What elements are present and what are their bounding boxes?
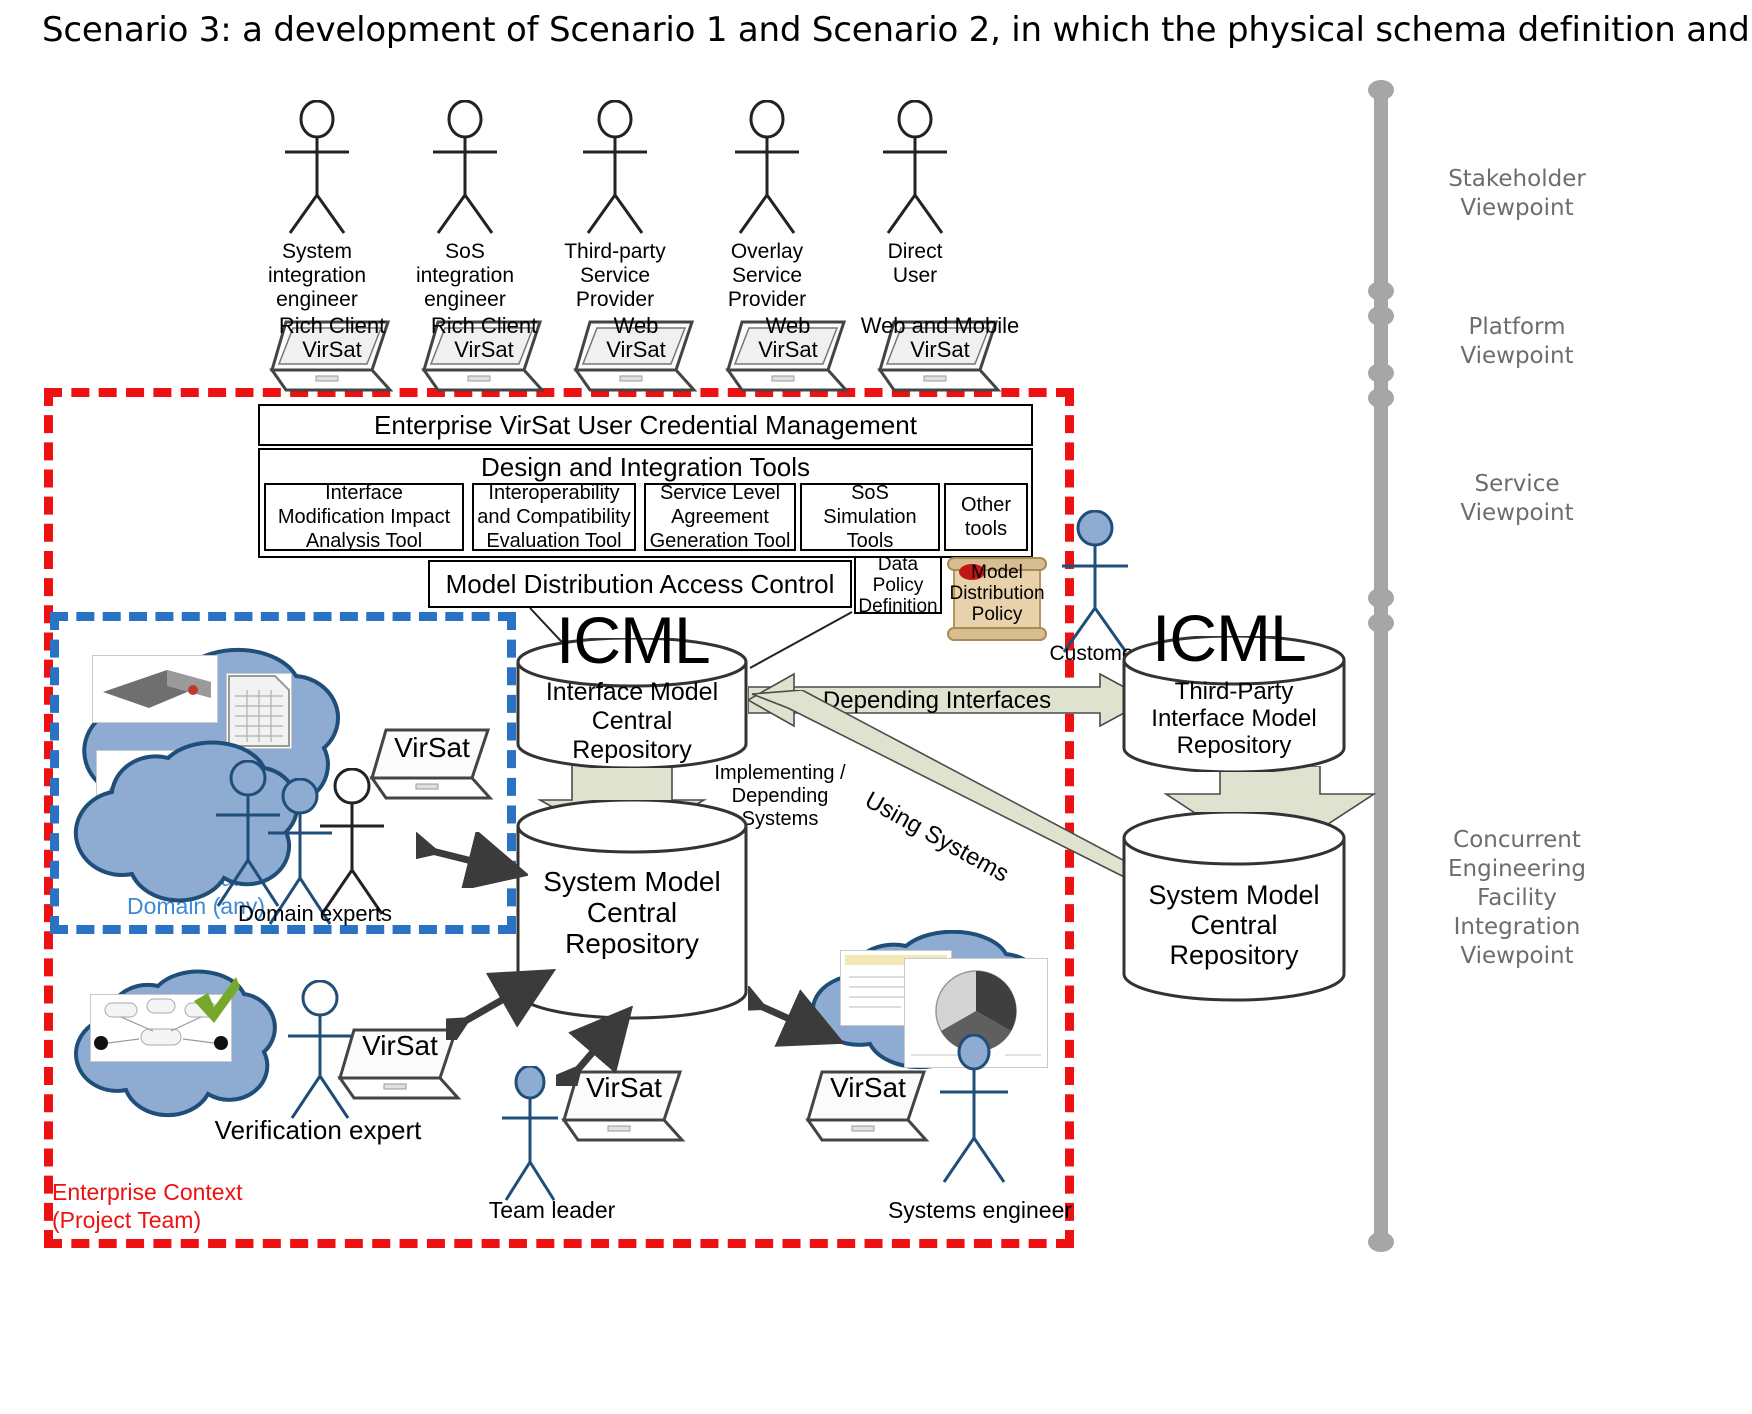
domain-expert-laptop: VirSat: [368, 726, 496, 809]
timeline-dot: [1368, 80, 1394, 100]
vp-line: Viewpoint: [1402, 194, 1632, 223]
verification-expert-laptop: VirSat: [336, 1026, 464, 1109]
actor-system-integration-engineer: [272, 100, 362, 240]
vp-line: Viewpoint: [1402, 342, 1632, 371]
tool-interface-modification[interactable]: Interface Modification Impact Analysis T…: [264, 483, 464, 551]
cyl-line: Central: [516, 897, 748, 928]
enterprise-label-line: Enterprise Context: [52, 1178, 352, 1206]
laptop-label: VirSat: [336, 1034, 464, 1058]
stick-figure-icon: [1050, 510, 1140, 655]
actor-label-line: Provider: [692, 288, 842, 312]
enterprise-context-label: Enterprise Context (Project Team): [52, 1178, 352, 1234]
vp-line: Viewpoint: [1402, 942, 1632, 971]
tool-service-level-agreement[interactable]: Service Level Agreement Generation Tool: [644, 483, 796, 551]
bidirectional-arrow-domain-to-system: [416, 832, 528, 888]
actor-direct-user: [870, 100, 960, 240]
actor-label-line: integration: [242, 264, 392, 288]
timeline-dot: [1368, 281, 1394, 301]
tool-interoperability-compatibility[interactable]: Interoperability and Compatibility Evalu…: [472, 483, 636, 551]
actor-label-verification-expert: Verification expert: [178, 1118, 458, 1142]
platform-laptop-web-2: Web VirSat: [724, 318, 852, 401]
actor-overlay-service-provider: [722, 100, 812, 240]
cyl-line: Repository: [1122, 940, 1346, 970]
actor-label-line: Direct: [840, 240, 990, 264]
platform-laptop-web-1: Web VirSat: [572, 318, 700, 401]
laptop-label-line: Web: [724, 314, 852, 338]
vp-line: Platform: [1402, 313, 1632, 342]
laptop-label-line: VirSat: [268, 338, 396, 362]
actor-label-sos-integration-engineer: SoS integration engineer: [390, 240, 540, 312]
stick-figure-icon: [870, 100, 960, 235]
viewpoint-label-platform: Platform Viewpoint: [1402, 313, 1632, 371]
laptop-label-line: VirSat: [724, 338, 852, 362]
timeline-dot: [1368, 388, 1394, 408]
laptop-label-line: Web: [572, 314, 700, 338]
laptop-label: Rich Client VirSat: [420, 314, 548, 362]
laptop-label: Web VirSat: [724, 314, 852, 362]
viewpoint-label-cef: Concurrent Engineering Facility Integrat…: [1402, 826, 1632, 971]
actor-label-line: Third-party: [540, 240, 690, 264]
platform-laptop-rich-client-2: Rich Client VirSat: [420, 318, 548, 401]
design-integration-tools-title: Design and Integration Tools: [258, 450, 1033, 484]
vp-line: Stakeholder: [1402, 165, 1632, 194]
cyl-line: System Model: [1122, 880, 1346, 910]
bidirectional-arrow-systems-engineer-to-system: [748, 986, 844, 1056]
vp-line: Integration: [1402, 913, 1632, 942]
cyl-line: Repository: [516, 736, 748, 765]
stick-figure-icon: [570, 100, 660, 235]
actor-label-overlay-service-provider: Overlay Service Provider: [692, 240, 842, 312]
tool-sos-simulation[interactable]: SoS Simulation Tools: [800, 483, 940, 551]
viewpoint-label-stakeholder: Stakeholder Viewpoint: [1402, 165, 1632, 223]
actor-label-line: Provider: [540, 288, 690, 312]
cylinder-label-third-party-interface-model-repository: Third-Party Interface Model Repository: [1122, 678, 1346, 759]
team-leader-laptop: VirSat: [560, 1068, 688, 1151]
actor-systems-engineer: [932, 1034, 1016, 1189]
actor-label-line: System: [242, 240, 392, 264]
vp-line: Engineering: [1402, 855, 1632, 884]
laptop-label: VirSat: [560, 1076, 688, 1100]
laptop-label: Rich Client VirSat: [268, 314, 396, 362]
systems-engineer-laptop: VirSat: [804, 1068, 932, 1151]
bidirectional-arrow-verification-to-system: [446, 966, 558, 1040]
cylinder-label-third-party-system-model-repository: System Model Central Repository: [1122, 880, 1346, 970]
cyl-line: Central: [1122, 910, 1346, 940]
cylinder-label-interface-model-central-repository: Interface Model Central Repository: [516, 678, 748, 765]
actor-label-line: integration: [390, 264, 540, 288]
timeline-dot: [1368, 1232, 1394, 1252]
actor-label-system-integration-engineer: System integration engineer: [242, 240, 392, 312]
actor-third-party-service-provider: [570, 100, 660, 240]
model-distribution-policy-label: ModelDistributionPolicy: [944, 562, 1050, 625]
page-title: Scenario 3: a development of Scenario 1 …: [42, 10, 1752, 50]
laptop-label-line: Web and Mobile: [860, 314, 1020, 338]
actor-label-third-party-service-provider: Third-party Service Provider: [540, 240, 690, 312]
laptop-label-line: VirSat: [420, 338, 548, 362]
timeline-dot: [1368, 613, 1394, 633]
actor-label-systems-engineer: Systems engineer: [860, 1198, 1100, 1222]
laptop-label-line: VirSat: [572, 338, 700, 362]
cyl-line: Interface Model: [516, 678, 748, 707]
cyl-line: Repository: [1122, 732, 1346, 759]
laptop-label: Web and Mobile VirSat: [860, 314, 1020, 362]
actor-team-leader: [494, 1066, 566, 1207]
stick-figure-icon: [272, 100, 362, 235]
timeline-dot: [1368, 363, 1394, 383]
stick-figure-icon: [722, 100, 812, 235]
actor-label-line: engineer: [390, 288, 540, 312]
laptop-label-line: Rich Client: [268, 314, 396, 338]
timeline-dot: [1368, 306, 1394, 326]
laptop-label: VirSat: [804, 1076, 932, 1100]
actor-label-line: Service: [540, 264, 690, 288]
actor-label-line: engineer: [242, 288, 392, 312]
hardware-photo: [92, 655, 218, 723]
vp-line: Concurrent: [1402, 826, 1632, 855]
laptop-label-line: VirSat: [860, 338, 1020, 362]
viewpoint-label-service: Service Viewpoint: [1402, 470, 1632, 528]
platform-laptop-rich-client-1: Rich Client VirSat: [268, 318, 396, 401]
actor-sos-integration-engineer: [420, 100, 510, 240]
actor-label-line: Service: [692, 264, 842, 288]
stick-figure-icon: [494, 1066, 566, 1202]
actor-label-line: Overlay: [692, 240, 842, 264]
laptop-label-line: Rich Client: [420, 314, 548, 338]
vp-line: Viewpoint: [1402, 499, 1632, 528]
platform-laptop-web-mobile: Web and Mobile VirSat: [876, 318, 1004, 401]
icml-label-interface-central: ICML: [556, 602, 710, 678]
actor-label-line: SoS: [390, 240, 540, 264]
laptop-label: Web VirSat: [572, 314, 700, 362]
enterprise-label-line: (Project Team): [52, 1206, 352, 1234]
cyl-line: Third-Party: [1122, 678, 1346, 705]
stick-figure-icon: [420, 100, 510, 235]
actor-label-direct-user: Direct User: [840, 240, 990, 288]
tool-other-tools[interactable]: Other tools: [944, 483, 1028, 551]
icml-label-third-party: ICML: [1152, 600, 1306, 676]
green-check-icon: [188, 975, 244, 1027]
actor-label-domain-experts: Domain experts: [200, 902, 430, 926]
vp-line: Service: [1402, 470, 1632, 499]
timeline-dot: [1368, 588, 1394, 608]
credential-management-box[interactable]: Enterprise VirSat User Credential Manage…: [258, 404, 1033, 446]
vp-line: Facility: [1402, 884, 1632, 913]
cyl-line: Repository: [516, 928, 748, 959]
laptop-label: VirSat: [368, 736, 496, 760]
viewpoint-timeline: [1374, 80, 1388, 1250]
cylinder-label-system-model-central-repository: System Model Central Repository: [516, 866, 748, 959]
actor-label-line: User: [840, 264, 990, 288]
actor-label-team-leader: Team leader: [452, 1198, 652, 1222]
cyl-line: Interface Model: [1122, 705, 1346, 732]
stick-figure-icon: [932, 1034, 1016, 1184]
cyl-line: System Model: [516, 866, 748, 897]
cyl-line: Central: [516, 707, 748, 736]
